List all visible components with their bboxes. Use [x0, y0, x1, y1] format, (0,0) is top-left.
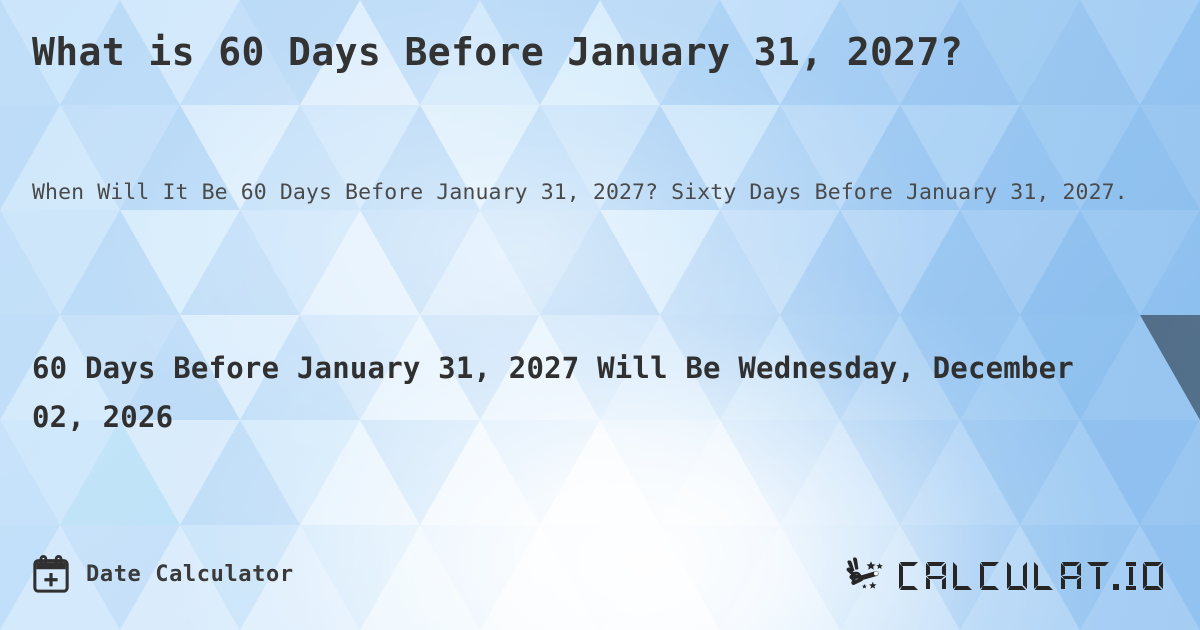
calculatio-brand[interactable] — [844, 554, 1168, 594]
date-calculator-label: Date Calculator — [86, 562, 294, 587]
footer: Date Calculator — [32, 548, 1168, 600]
page-subtitle: When Will It Be 60 Days Before January 3… — [32, 174, 1162, 211]
date-calculator-brand[interactable]: Date Calculator — [32, 555, 294, 593]
calendar-plus-icon — [32, 555, 70, 593]
calculatio-wordmark — [896, 554, 1168, 594]
og-card: What is 60 Days Before January 31, 2027?… — [0, 0, 1200, 630]
page-title: What is 60 Days Before January 31, 2027? — [32, 28, 1062, 76]
answer-statement: 60 Days Before January 31, 2027 Will Be … — [32, 344, 1092, 442]
hand-magic-wand-icon — [844, 554, 890, 594]
content-area: What is 60 Days Before January 31, 2027?… — [0, 0, 1200, 630]
